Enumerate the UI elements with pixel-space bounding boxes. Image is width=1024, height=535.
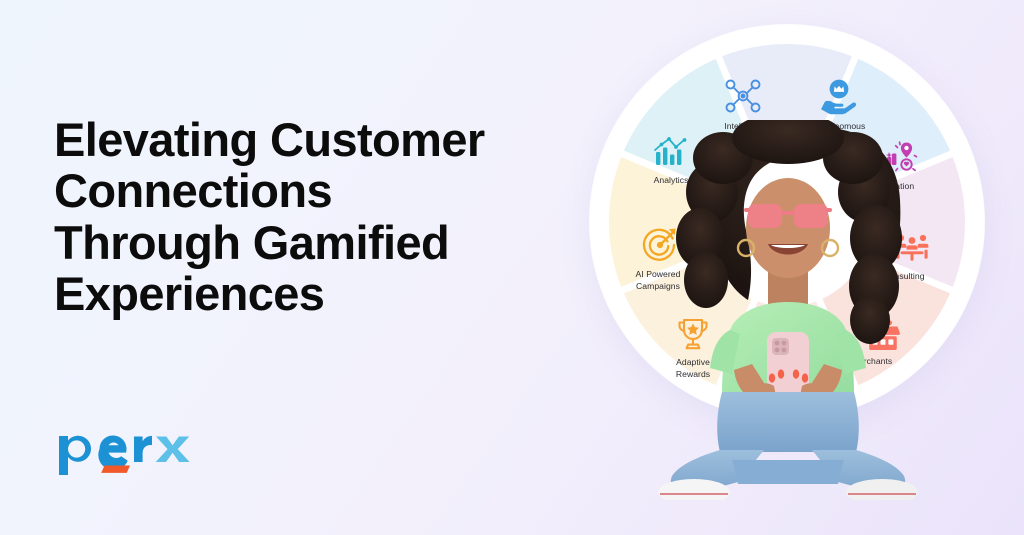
headline-line-3: Through Gamified xyxy=(54,217,614,268)
phone-camera xyxy=(772,338,789,355)
logo-accent-bar xyxy=(101,466,130,473)
logo-letter-x xyxy=(156,437,190,463)
page-title: Elevating Customer Connections Through G… xyxy=(54,114,614,320)
hand-crown-icon xyxy=(819,76,859,116)
network-nodes-icon xyxy=(723,76,763,116)
jeans-waist xyxy=(717,392,859,452)
logo-letter-e xyxy=(98,435,127,470)
headline-line-4: Experiences xyxy=(54,268,614,319)
logo-letter-p xyxy=(59,436,91,475)
headline-line-1: Elevating Customer xyxy=(54,114,614,165)
perx-logo[interactable] xyxy=(55,421,200,477)
hero-person-photo xyxy=(648,120,928,500)
jeans-crossed-shin xyxy=(732,460,844,484)
logo-letter-r xyxy=(134,436,152,462)
headline-line-2: Connections xyxy=(54,165,614,216)
